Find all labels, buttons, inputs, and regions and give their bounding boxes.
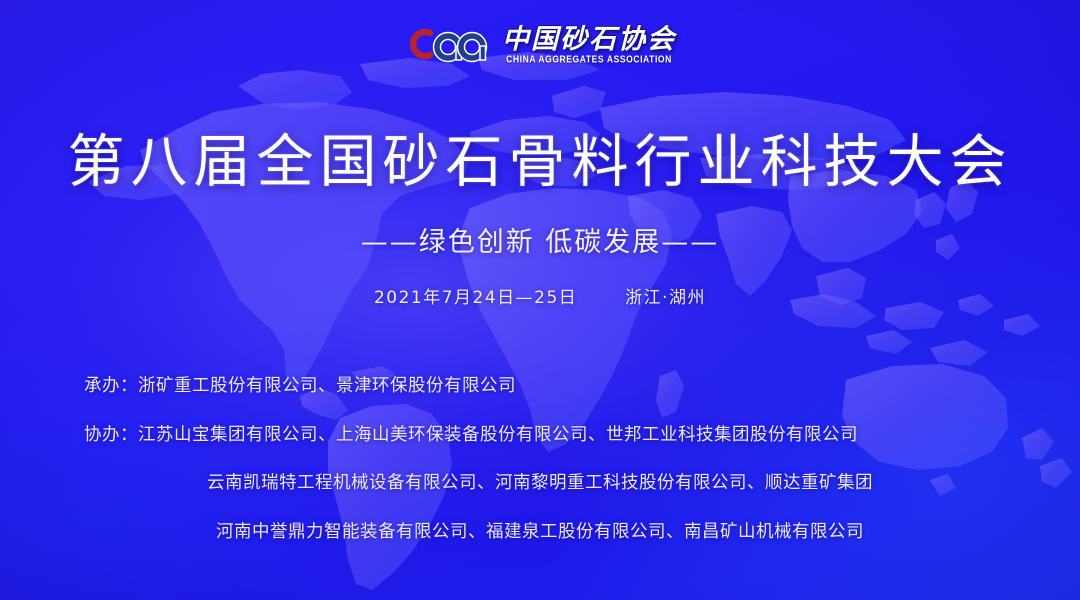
credit-line-co-organizer-3: 河南中誉鼎力智能装备有限公司、福建泉工股份有限公司、南昌矿山机械有限公司: [0, 524, 1080, 542]
page-title: 第八届全国砂石骨料行业科技大会: [0, 116, 1080, 198]
credits-block: 承办：浙矿重工股份有限公司、景津环保股份有限公司 协办：江苏山宝集团有限公司、上…: [0, 378, 1080, 541]
credit-line-co-organizer-1: 协办：江苏山宝集团有限公司、上海山美环保装备股份有限公司、世邦工业科技集团股份有…: [0, 427, 1080, 445]
conference-banner: 中国砂石协会 CHINA AGGREGATES ASSOCIATION 第八届全…: [0, 0, 1080, 600]
event-venue: 浙江·湖州: [625, 288, 706, 308]
association-name-block: 中国砂石协会 CHINA AGGREGATES ASSOCIATION: [502, 26, 676, 65]
association-logo: 中国砂石协会 CHINA AGGREGATES ASSOCIATION: [0, 18, 1080, 64]
credit-line-organizer: 承办：浙矿重工股份有限公司、景津环保股份有限公司: [0, 378, 1080, 396]
event-meta: 2021年7月24日—25日 浙江·湖州: [0, 283, 1080, 308]
caa-logo-icon: [404, 18, 496, 64]
credit-line-co-organizer-2: 云南凯瑞特工程机械设备有限公司、河南黎明重工科技股份有限公司、顺达重矿集团: [0, 475, 1080, 493]
event-date: 2021年7月24日—25日: [374, 288, 577, 308]
association-name-cn: 中国砂石协会: [502, 26, 676, 53]
subtitle-slogan: ——绿色创新 低碳发展——: [0, 220, 1080, 259]
association-name-en: CHINA AGGREGATES ASSOCIATION: [506, 54, 672, 64]
